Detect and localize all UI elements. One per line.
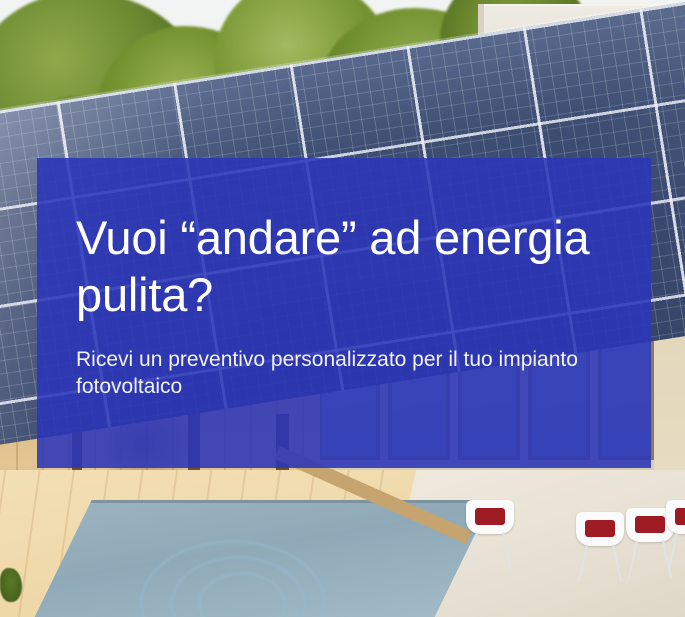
chair-cushion [475,508,505,525]
chair-cushion [635,516,665,533]
hero-subtitle: Ricevi un preventivo personalizzato per … [76,346,631,401]
chair-cushion [675,508,685,525]
hero-title: Vuoi “andare” ad energia pulita? [76,210,631,324]
hero-overlay-card: Vuoi “andare” ad energia pulita? Ricevi … [37,158,651,468]
chair-cushion [585,520,615,537]
hero-text-block: Vuoi “andare” ad energia pulita? Ricevi … [76,210,631,401]
planter-shrub [0,568,22,602]
hero-banner: Vuoi “andare” ad energia pulita? Ricevi … [0,0,685,617]
